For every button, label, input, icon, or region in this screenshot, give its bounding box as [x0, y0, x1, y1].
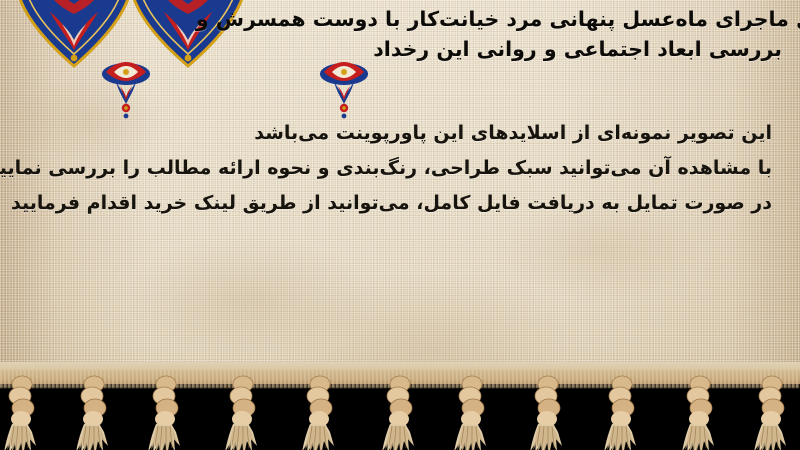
persian-pendant-drop-right [318, 62, 372, 124]
tassel-row [0, 362, 800, 450]
body-line-2: با مشاهده آن می‌توانید سبک طراحی، رنگ‌بن… [20, 151, 772, 186]
presentation-slide: یل ماجرای ماه‌عسل پنهانی مرد خیانت‌کار ب… [0, 0, 800, 450]
title-line-2: بررسی ابعاد اجتماعی و روانی این رخداد [22, 34, 782, 64]
persian-pendant-drop-left [100, 62, 154, 124]
slide-title: یل ماجرای ماه‌عسل پنهانی مرد خیانت‌کار ب… [22, 4, 782, 64]
body-line-1: این تصویر نمونه‌ای از اسلایدهای این پاور… [20, 116, 772, 151]
title-line-1: یل ماجرای ماه‌عسل پنهانی مرد خیانت‌کار ب… [22, 4, 800, 34]
body-line-3: در صورت تمایل به دریافت فایل کامل، می‌تو… [20, 186, 772, 221]
slide-body: این تصویر نمونه‌ای از اسلایدهای این پاور… [20, 116, 772, 221]
carpet-tassel-fringe [0, 362, 800, 450]
